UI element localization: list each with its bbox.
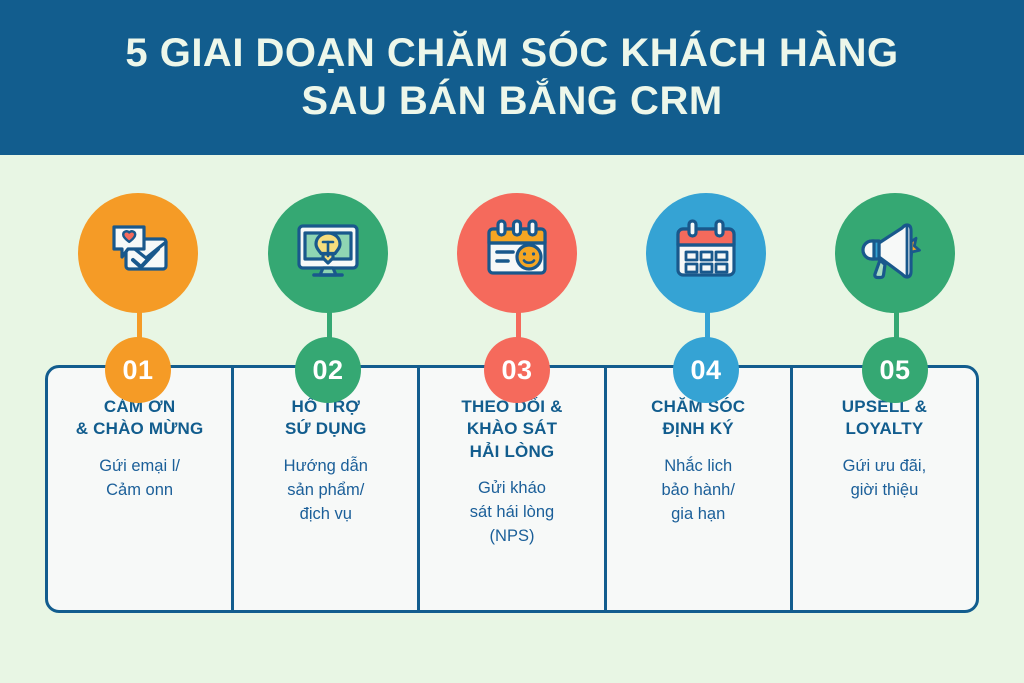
stage-number-badge-05: 05 [862, 337, 928, 403]
stage-icon-circle-02 [268, 193, 388, 313]
stage-number-badge-03: 03 [484, 337, 550, 403]
page-title-line-2: SAU BÁN BẮNG CRM [301, 78, 722, 125]
stage-number-badge-02: 02 [295, 337, 361, 403]
stage-card-body-01: Gứi emại l/ Cảm onn [99, 455, 180, 503]
stage-card-title-03: THEO DỐI & KHÀO SÁT HẢI LÒNG [461, 396, 562, 463]
stage-card-01: CẢM ƠN & CHÀO MỪNG Gứi emại l/ Cảm onn [48, 368, 234, 610]
header-banner: 5 GIAI DOẠN CHĂM SÓC KHÁCH HÀNG SAU BÁN … [0, 0, 1024, 155]
stage-card-body-02: Hướng dẫn sản phẩm/ địch vụ [284, 455, 368, 527]
stage-card-body-05: Gứi ưu đãi, giời thiệu [843, 455, 927, 503]
stage-number-badge-01: 01 [105, 337, 171, 403]
megaphone-star-icon [857, 213, 933, 294]
stage-card-body-03: Gửi kháo sát hái lòng (NPS) [470, 477, 554, 549]
envelope-heart-icon [100, 213, 176, 294]
stage-icon-circle-03 [457, 193, 577, 313]
calendar-icon [668, 213, 744, 294]
stage-card-title-05: UPSELL & LOYALTY [842, 396, 927, 441]
stage-icon-circle-01 [78, 193, 198, 313]
stage-card-03: THEO DỐI & KHÀO SÁT HẢI LÒNG Gửi kháo sá… [420, 368, 606, 610]
stage-card-body-04: Nhắc lich bảo hành/ gia hạn [662, 455, 735, 527]
survey-smiley-calendar-icon [479, 213, 555, 294]
monitor-lightbulb-icon [290, 213, 366, 294]
stage-card-02: HỐ TRỢ SỨ DỤNG Hướng dẫn sản phẩm/ địch … [234, 368, 420, 610]
stage-icon-circle-04 [646, 193, 766, 313]
stage-number-badge-04: 04 [673, 337, 739, 403]
infographic-canvas: 5 GIAI DOẠN CHĂM SÓC KHÁCH HÀNG SAU BÁN … [0, 0, 1024, 683]
page-title-line-1: 5 GIAI DOẠN CHĂM SÓC KHÁCH HÀNG [125, 30, 898, 77]
stage-card-title-04: CHĂM SÓC ĐỊNH KÝ [651, 396, 745, 441]
stage-card-05: UPSELL & LOYALTY Gứi ưu đãi, giời thiệu [793, 368, 976, 610]
stage-card-04: CHĂM SÓC ĐỊNH KÝ Nhắc lich bảo hành/ gia… [607, 368, 793, 610]
stage-icon-circle-05 [835, 193, 955, 313]
